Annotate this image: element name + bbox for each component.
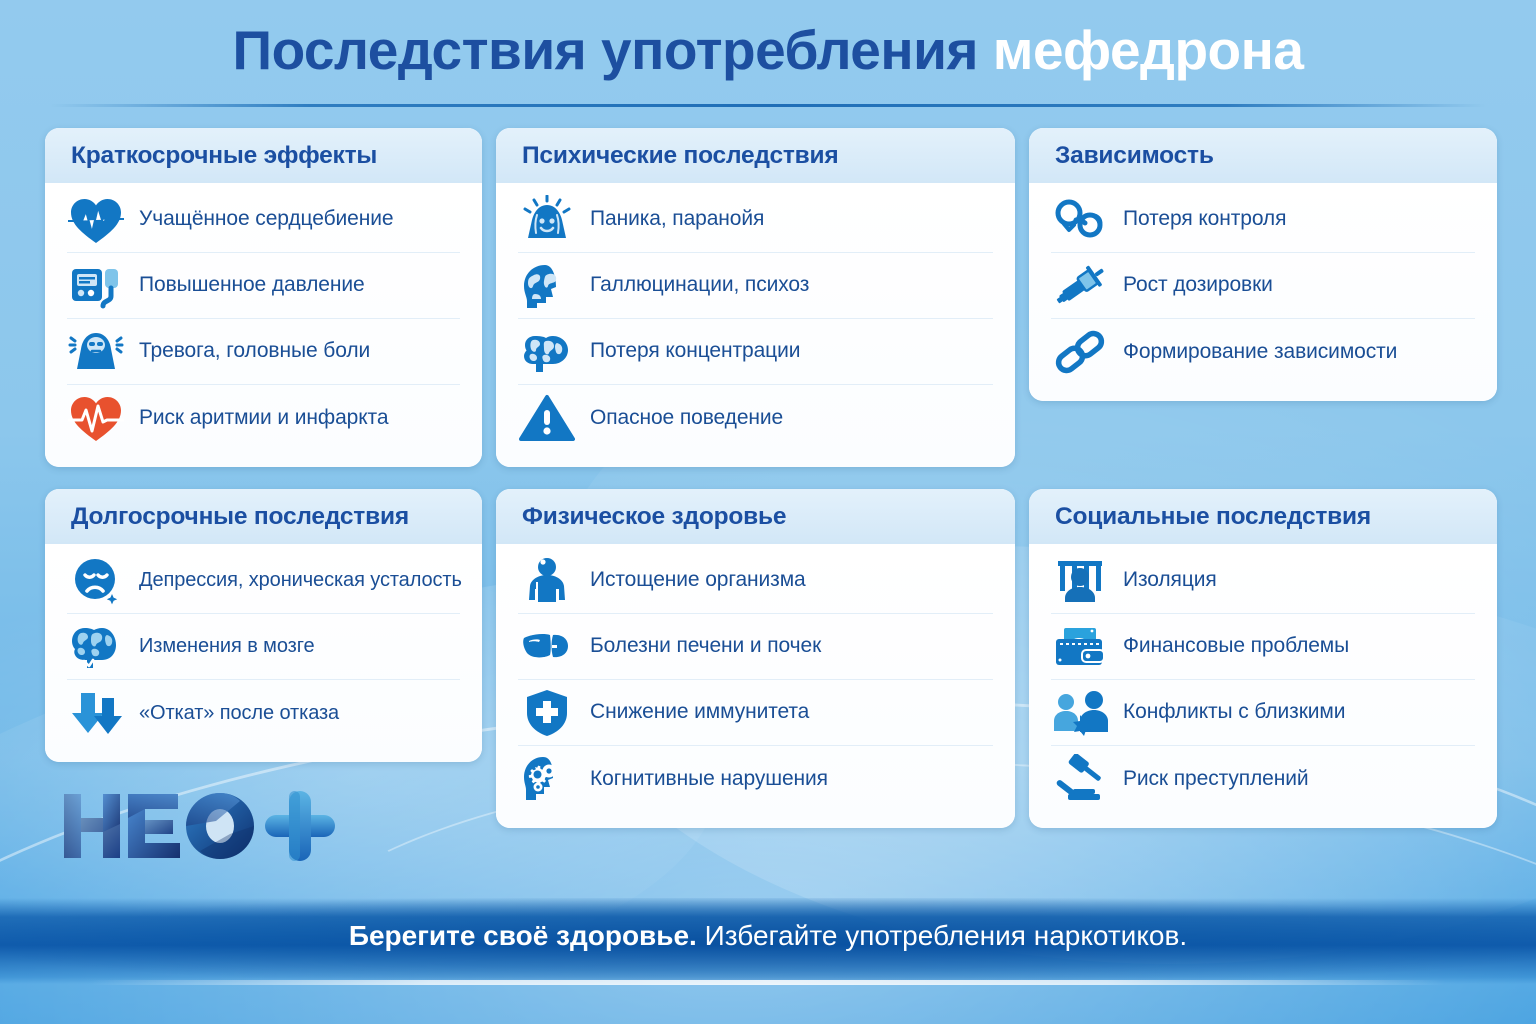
list-item-label: Изменения в мозге [139,635,314,658]
list-item-label: Риск аритмии и инфаркта [139,406,388,430]
card-title: Психические последствия [522,142,989,170]
list-item[interactable]: Потеря контроля [1051,187,1475,253]
title-divider [50,104,1486,107]
list-item-label: Опасное поведение [590,406,783,430]
list-item[interactable]: Риск преступлений [1051,746,1475,812]
card-title: Краткосрочные эффекты [71,142,456,170]
list-item[interactable]: Тревога, головные боли [67,319,460,385]
card-title: Физическое здоровье [522,503,989,531]
page-title-primary: Последствия употребления [233,19,978,81]
list-item[interactable]: Формирование зависимости [1051,319,1475,385]
card-dependency: Зависимость Потеря контроля Рост дозиров… [1029,128,1497,401]
card-header: Физическое здоровье [496,489,1015,544]
list-item[interactable]: Когнитивные нарушения [518,746,993,812]
card-header: Краткосрочные эффекты [45,128,482,183]
card-mental-consequences: Психические последствия Паника, паранойя… [496,128,1015,467]
list-item-label: Риск преступлений [1123,767,1309,791]
card-short-term-effects: Краткосрочные эффекты Учащённое сердцеби… [45,128,482,467]
down-arrows-icon [67,684,125,742]
list-item[interactable]: Учащённое сердцебиение [67,187,460,253]
list-item-label: Повышенное давление [139,273,365,297]
card-body: Депрессия, хроническая усталость Изменен… [45,544,482,762]
head-gears-icon [518,750,576,808]
card-header: Долгосрочные последствия [45,489,482,544]
list-item[interactable]: Снижение иммунитета [518,680,993,746]
cards-grid: Краткосрочные эффекты Учащённое сердцеби… [45,128,1497,828]
list-item-label: Снижение иммунитета [590,700,809,724]
card-header: Социальные последствия [1029,489,1497,544]
brain-icon [518,323,576,381]
list-item-label: Истощение организма [590,568,806,592]
hallucination-head-icon [518,257,576,315]
footer-message: Берегите своё здоровье. Избегайте употре… [0,920,1536,952]
list-item[interactable]: Риск аритмии и инфаркта [67,385,460,451]
brain-change-icon [67,618,125,676]
list-item[interactable]: Паника, паранойя [518,187,993,253]
list-item-label: Тревога, головные боли [139,339,370,363]
logo-neo-plus [62,788,342,864]
list-item[interactable]: Повышенное давление [67,253,460,319]
list-item-label: Учащённое сердцебиение [139,207,393,231]
list-item-label: Когнитивные нарушения [590,767,828,791]
list-item[interactable]: Изменения в мозге [67,614,460,680]
handcuffs-icon [1051,191,1109,249]
prison-isolation-icon [1051,552,1109,610]
card-body: Потеря контроля Рост дозировки Формирова… [1029,183,1497,401]
list-item[interactable]: Финансовые проблемы [1051,614,1475,680]
list-item-label: «Откат» после отказа [139,702,339,725]
card-long-term-consequences: Долгосрочные последствия Депрессия, хрон… [45,489,482,762]
list-item-label: Потеря концентрации [590,339,800,363]
list-item-label: Изоляция [1123,568,1217,592]
list-item[interactable]: Конфликты с близкими [1051,680,1475,746]
list-item-label: Болезни печени и почек [590,634,821,658]
card-body: Учащённое сердцебиение Повышенное давлен… [45,183,482,467]
warning-triangle-icon [518,389,576,447]
chain-link-icon [1051,323,1109,381]
sad-face-icon [67,552,125,610]
footer-message-bold: Берегите своё здоровье. [349,920,697,951]
footer-glow-line [90,980,1446,985]
card-body: Изоляция Финансовые проблемы Конфликты с… [1029,544,1497,828]
list-item-label: Депрессия, хроническая усталость [139,569,462,592]
heart-pulse-icon [67,191,125,249]
page-title: Последствия употребления мефедрона [0,22,1536,80]
card-header: Зависимость [1029,128,1497,183]
list-item-label: Рост дозировки [1123,273,1273,297]
list-item-label: Конфликты с близкими [1123,700,1345,724]
card-title: Зависимость [1055,142,1471,170]
list-item-label: Формирование зависимости [1123,340,1397,364]
list-item-label: Потеря контроля [1123,207,1286,231]
headache-head-icon [67,323,125,381]
list-item[interactable]: Изоляция [1051,548,1475,614]
list-item[interactable]: Галлюцинации, психоз [518,253,993,319]
list-item-label: Финансовые проблемы [1123,634,1349,658]
panic-ghost-icon [518,191,576,249]
list-item[interactable]: Рост дозировки [1051,253,1475,319]
exhausted-person-icon [518,552,576,610]
card-header: Психические последствия [496,128,1015,183]
footer-message-regular: Избегайте употребления наркотиков. [697,920,1187,951]
liver-kidney-icon [518,618,576,676]
list-item-label: Паника, паранойя [590,207,764,231]
list-item[interactable]: Депрессия, хроническая усталость [67,548,460,614]
wallet-icon [1051,618,1109,676]
gavel-icon [1051,750,1109,808]
list-item-label: Галлюцинации, психоз [590,273,809,297]
card-title: Социальные последствия [1055,503,1471,531]
shield-cross-icon [518,684,576,742]
card-social-consequences: Социальные последствия Изоляция Финансов… [1029,489,1497,828]
syringe-icon [1051,257,1109,315]
card-body: Паника, паранойя Галлюцинации, психоз По… [496,183,1015,467]
conflict-people-icon [1051,684,1109,742]
list-item[interactable]: Опасное поведение [518,385,993,451]
card-physical-health: Физическое здоровье Истощение организма … [496,489,1015,828]
list-item[interactable]: Истощение организма [518,548,993,614]
heart-pulse-red-icon [67,389,125,447]
blood-pressure-monitor-icon [67,257,125,315]
list-item[interactable]: Болезни печени и почек [518,614,993,680]
card-title: Долгосрочные последствия [71,503,456,531]
card-body: Истощение организма Болезни печени и поч… [496,544,1015,828]
list-item[interactable]: «Откат» после отказа [67,680,460,746]
list-item[interactable]: Потеря концентрации [518,319,993,385]
page-title-accent: мефедрона [993,19,1304,81]
